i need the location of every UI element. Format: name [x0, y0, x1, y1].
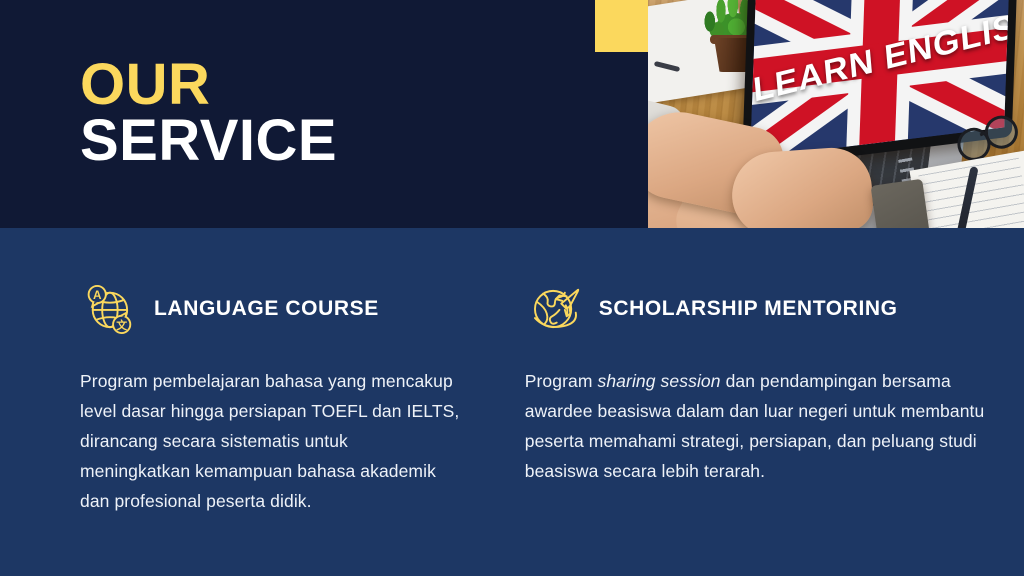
svg-text:A: A	[93, 289, 102, 302]
service-card-header: A 文 LANGUAGE COURSE	[80, 280, 462, 338]
globe-airplane-icon	[525, 280, 583, 338]
service-card-language-course: A 文 LANGUAGE COURSE Program pembelajaran…	[0, 228, 502, 516]
svg-text:文: 文	[116, 318, 127, 332]
service-description: Program sharing session dan pendampingan…	[525, 366, 993, 486]
page-title-line-1: OUR	[80, 57, 337, 113]
service-description-emphasis: sharing session	[598, 371, 721, 391]
globe-translate-icon: A 文	[80, 280, 138, 338]
services-panel: A 文 LANGUAGE COURSE Program pembelajaran…	[0, 228, 1024, 576]
service-card-header: SCHOLARSHIP MENTORING	[525, 280, 998, 338]
yellow-accent-block	[595, 0, 649, 52]
services-list: A 文 LANGUAGE COURSE Program pembelajaran…	[0, 228, 1024, 516]
slide: OUR SERVICE	[0, 0, 1024, 576]
service-title: LANGUAGE COURSE	[154, 297, 379, 321]
service-description-part-1: Program	[525, 371, 598, 391]
page-title-line-2: SERVICE	[80, 113, 337, 169]
service-card-scholarship-mentoring: SCHOLARSHIP MENTORING Program sharing se…	[525, 228, 1024, 516]
header-band: OUR SERVICE	[0, 0, 1024, 228]
hero-photo: LEARN ENGLISH	[648, 0, 1024, 228]
service-description: Program pembelajaran bahasa yang mencaku…	[80, 366, 462, 516]
service-title: SCHOLARSHIP MENTORING	[599, 297, 898, 321]
page-title: OUR SERVICE	[80, 57, 337, 170]
